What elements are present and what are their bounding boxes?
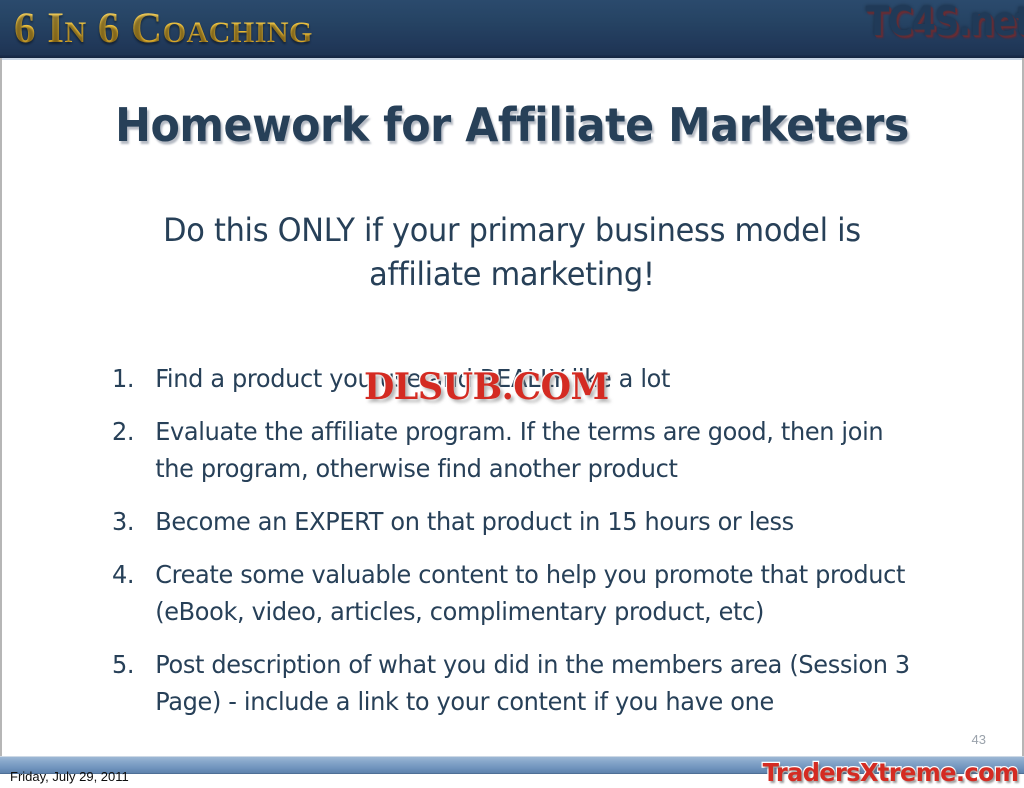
list-item-number: 5. xyxy=(112,646,143,683)
list-item-number: 1. xyxy=(112,360,143,397)
list-item: 3. Become an EXPERT on that product in 1… xyxy=(112,503,928,540)
slide-title: Homework for Affiliate Marketers xyxy=(36,96,988,154)
slide-subtitle: Do this ONLY if your primary business mo… xyxy=(132,208,892,296)
page-number: 43 xyxy=(972,732,986,748)
tc4s-logo: TC4S.net xyxy=(866,0,1024,46)
brand-title: 6 In 6 Coaching xyxy=(14,2,313,55)
list-item-text: Evaluate the affiliate program. If the t… xyxy=(155,417,883,483)
list-item-text: Post description of what you did in the … xyxy=(155,650,910,716)
dlsub-watermark: DLSUB.COM xyxy=(364,366,609,408)
list-item: 2. Evaluate the affiliate program. If th… xyxy=(112,413,928,487)
slide-header-band: 6 In 6 Coaching TC4S.net xyxy=(0,0,1024,58)
footer-date: Friday, July 29, 2011 xyxy=(10,768,129,785)
presentation-slide: 6 In 6 Coaching TC4S.net Homework for Af… xyxy=(0,0,1024,788)
tradersxtreme-logo: TradersXtreme.com xyxy=(762,758,1018,787)
list-item: 5. Post description of what you did in t… xyxy=(112,646,928,720)
list-item-text: Create some valuable content to help you… xyxy=(155,560,905,626)
list-item-text: Become an EXPERT on that product in 15 h… xyxy=(155,507,794,536)
list-item-number: 2. xyxy=(112,413,143,450)
list-item-number: 4. xyxy=(112,556,143,593)
list-item: 4. Create some valuable content to help … xyxy=(112,556,928,630)
slide-left-border xyxy=(0,58,2,758)
homework-steps-list: 1. Find a product you use and REALLY lik… xyxy=(112,360,962,736)
list-item-number: 3. xyxy=(112,503,143,540)
header-underline xyxy=(2,58,1022,60)
